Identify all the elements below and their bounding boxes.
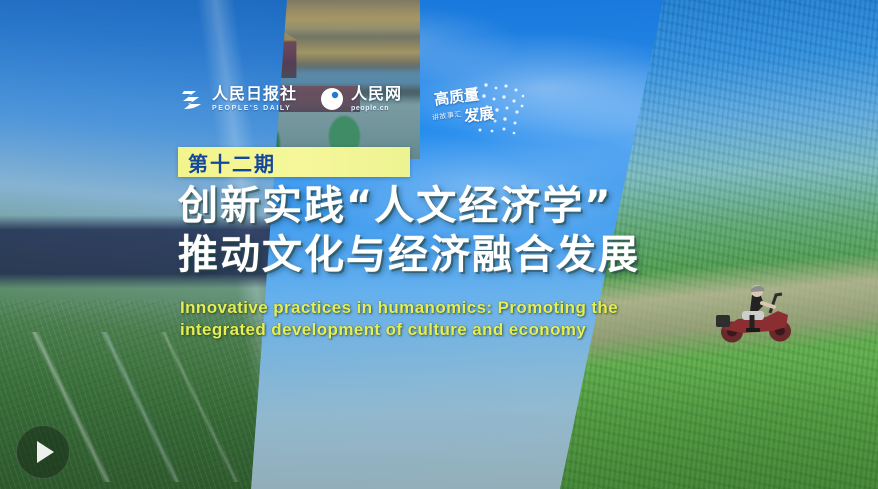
peoples-daily-logo-icon: [180, 86, 206, 112]
subheadline: Innovative practices in humanomics: Prom…: [180, 297, 720, 342]
subheadline-line-2: integrated development of culture and ec…: [180, 319, 720, 341]
subheadline-line-1: Innovative practices in humanomics: Prom…: [180, 297, 720, 319]
headline: 创新实践“人文经济学” 推动文化与经济融合发展: [178, 182, 718, 280]
scooter-rider-illustration: [712, 285, 798, 345]
play-triangle-icon: [37, 441, 54, 463]
headline-line-1: 创新实践“人文经济学”: [178, 182, 718, 231]
people-cn-name-cn: 人民网: [351, 86, 402, 102]
people-cn-name-en: people.cn: [351, 105, 402, 112]
people-cn-brand: 人民网 people.cn: [319, 86, 402, 112]
issue-banner: 第十二期: [178, 147, 410, 177]
brand-logos: 人民日报社 PEOPLE'S DAILY 人民网 people.cn: [180, 86, 402, 112]
peoples-daily-name-cn: 人民日报社: [212, 86, 297, 102]
campaign-badge-line2: 发展: [463, 102, 495, 127]
people-cn-logo-icon: [319, 86, 345, 112]
campaign-badge: 高质量 讲故事汇 发展: [428, 80, 524, 138]
peoples-daily-name-en: PEOPLE'S DAILY: [212, 105, 297, 112]
video-poster[interactable]: 人民日报社 PEOPLE'S DAILY 人民网 people.cn: [0, 0, 878, 489]
headline-line-2: 推动文化与经济融合发展: [178, 231, 718, 280]
play-button[interactable]: [16, 425, 70, 479]
issue-banner-label: 第十二期: [188, 148, 276, 177]
campaign-badge-subtitle: 讲故事汇: [432, 109, 463, 123]
peoples-daily-brand: 人民日报社 PEOPLE'S DAILY: [180, 86, 297, 112]
